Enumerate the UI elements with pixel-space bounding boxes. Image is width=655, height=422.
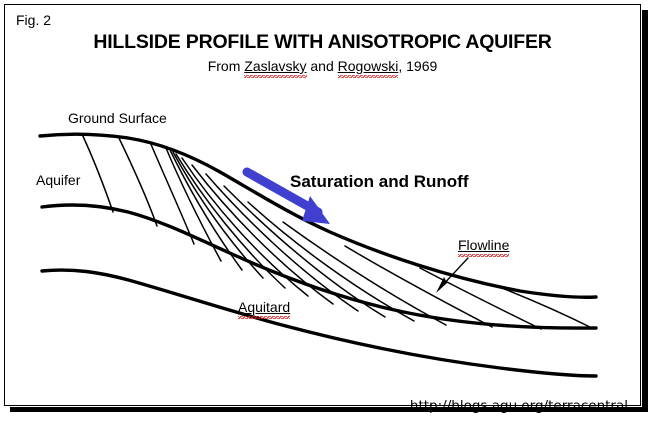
label-aquifer: Aquifer [36,172,80,188]
figure-subtitle: From Zaslavsky and Rogowski, 1969 [0,58,645,74]
flowline [82,134,113,212]
label-aquitard-text: Aquitard [238,299,290,315]
subtitle-author-two: Rogowski [338,58,399,74]
subtitle-year: , 1969 [398,58,437,74]
label-aquitard: Aquitard [238,299,290,315]
flowline [497,286,592,328]
subtitle-prefix: From [208,58,245,74]
figure-root: Fig. 2 HILLSIDE PROFILE WITH ANISOTROPIC… [0,0,655,422]
footer-source-url: http://blogs.agu.org/terracentral [0,398,628,414]
subtitle-conjunction: and [307,58,338,74]
label-ground-surface: Ground Surface [68,110,167,126]
aquitard-base-line [42,270,596,376]
aquifer-base-line [42,205,596,328]
label-flowline-text: Flowline [458,237,509,253]
subtitle-author-one: Zaslavsky [244,58,306,74]
flowlines [82,134,592,329]
geologic-boundaries [40,134,596,376]
label-saturation-and-runoff: Saturation and Runoff [290,172,468,192]
figure-number-label: Fig. 2 [16,12,51,28]
label-flowline: Flowline [458,237,509,253]
flowline-pointer-icon [436,258,468,293]
figure-title: HILLSIDE PROFILE WITH ANISOTROPIC AQUIFE… [0,31,645,54]
